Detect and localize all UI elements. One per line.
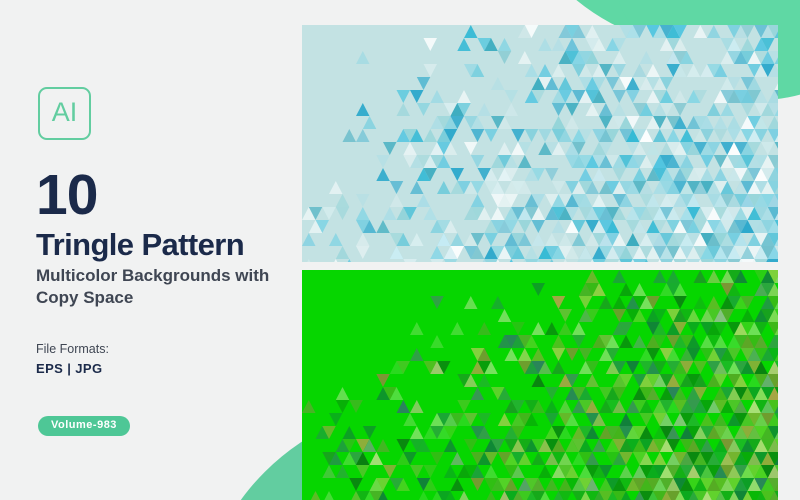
green-triangle-pattern-art	[302, 270, 778, 500]
preview-canvas: AI 10 Tringle Pattern Multicolor Backgro…	[0, 0, 800, 500]
preview-panel-blue[interactable]	[302, 25, 778, 262]
ai-format-badge: AI	[38, 87, 91, 140]
info-column: AI 10 Tringle Pattern Multicolor Backgro…	[36, 0, 298, 500]
blue-triangle-pattern-art	[302, 25, 778, 262]
ai-format-badge-label: AI	[52, 99, 78, 126]
preview-panel-green[interactable]	[302, 270, 778, 500]
page-subtitle: Multicolor Backgrounds with Copy Space	[36, 265, 286, 309]
item-count: 10	[36, 167, 97, 224]
file-formats-label: File Formats:	[36, 342, 109, 356]
file-formats-value: EPS | JPG	[36, 361, 103, 376]
volume-badge: Volume-983	[38, 416, 130, 436]
page-title: Tringle Pattern	[36, 228, 244, 261]
